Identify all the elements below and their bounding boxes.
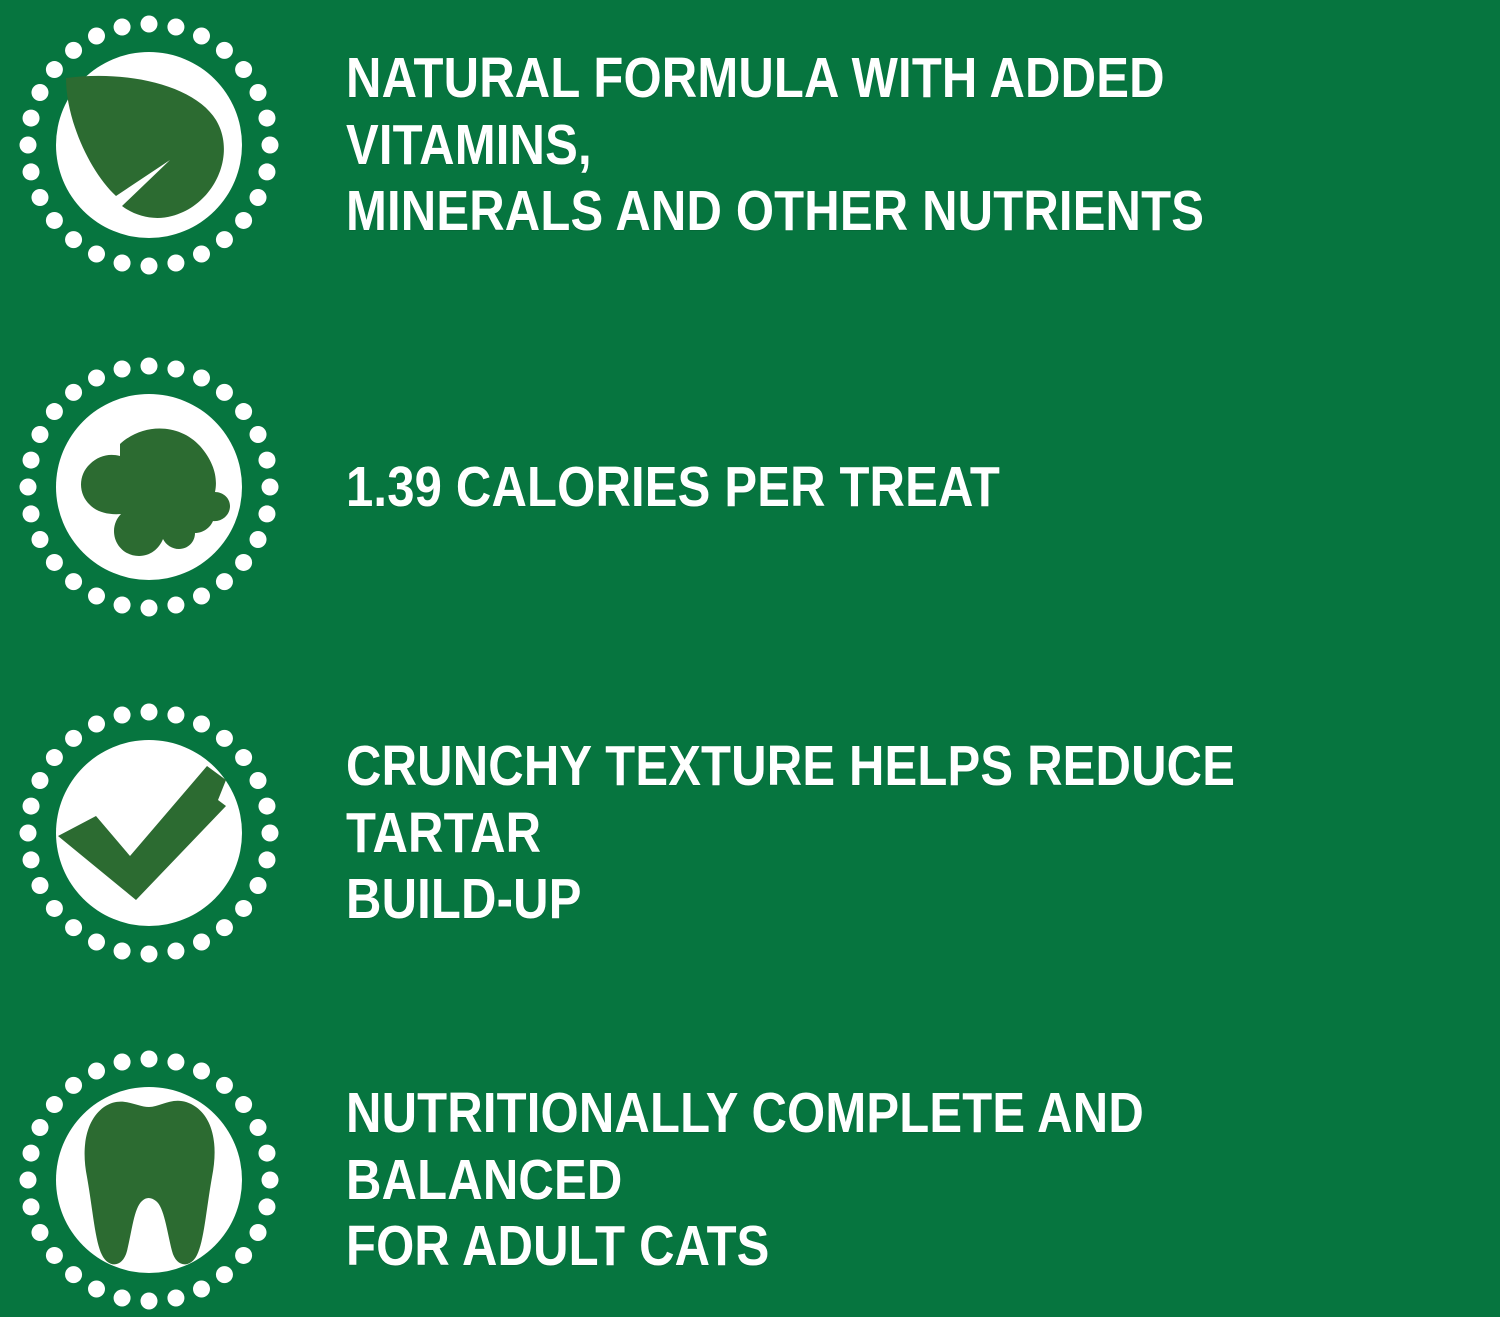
tooth-icon [4, 1035, 294, 1317]
feature-text: CRUNCHY TEXTURE HELPS REDUCE TARTAR BUIL… [346, 733, 1338, 933]
feature-text: NATURAL FORMULA WITH ADDED VITAMINS, MIN… [346, 45, 1338, 245]
checkmark-icon [4, 688, 294, 978]
feature-row: NATURAL FORMULA WITH ADDED VITAMINS, MIN… [0, 0, 1500, 290]
leaf-icon [4, 0, 294, 290]
cat-treat-icon [4, 342, 294, 632]
feature-text: NUTRITIONALLY COMPLETE AND BALANCED FOR … [346, 1080, 1338, 1280]
feature-row: CRUNCHY TEXTURE HELPS REDUCE TARTAR BUIL… [0, 688, 1500, 978]
feature-row: NUTRITIONALLY COMPLETE AND BALANCED FOR … [0, 1035, 1500, 1317]
feature-row: 1.39 CALORIES PER TREAT [0, 342, 1500, 632]
product-features-panel: NATURAL FORMULA WITH ADDED VITAMINS, MIN… [0, 0, 1500, 1317]
feature-text: 1.39 CALORIES PER TREAT [346, 454, 1338, 521]
